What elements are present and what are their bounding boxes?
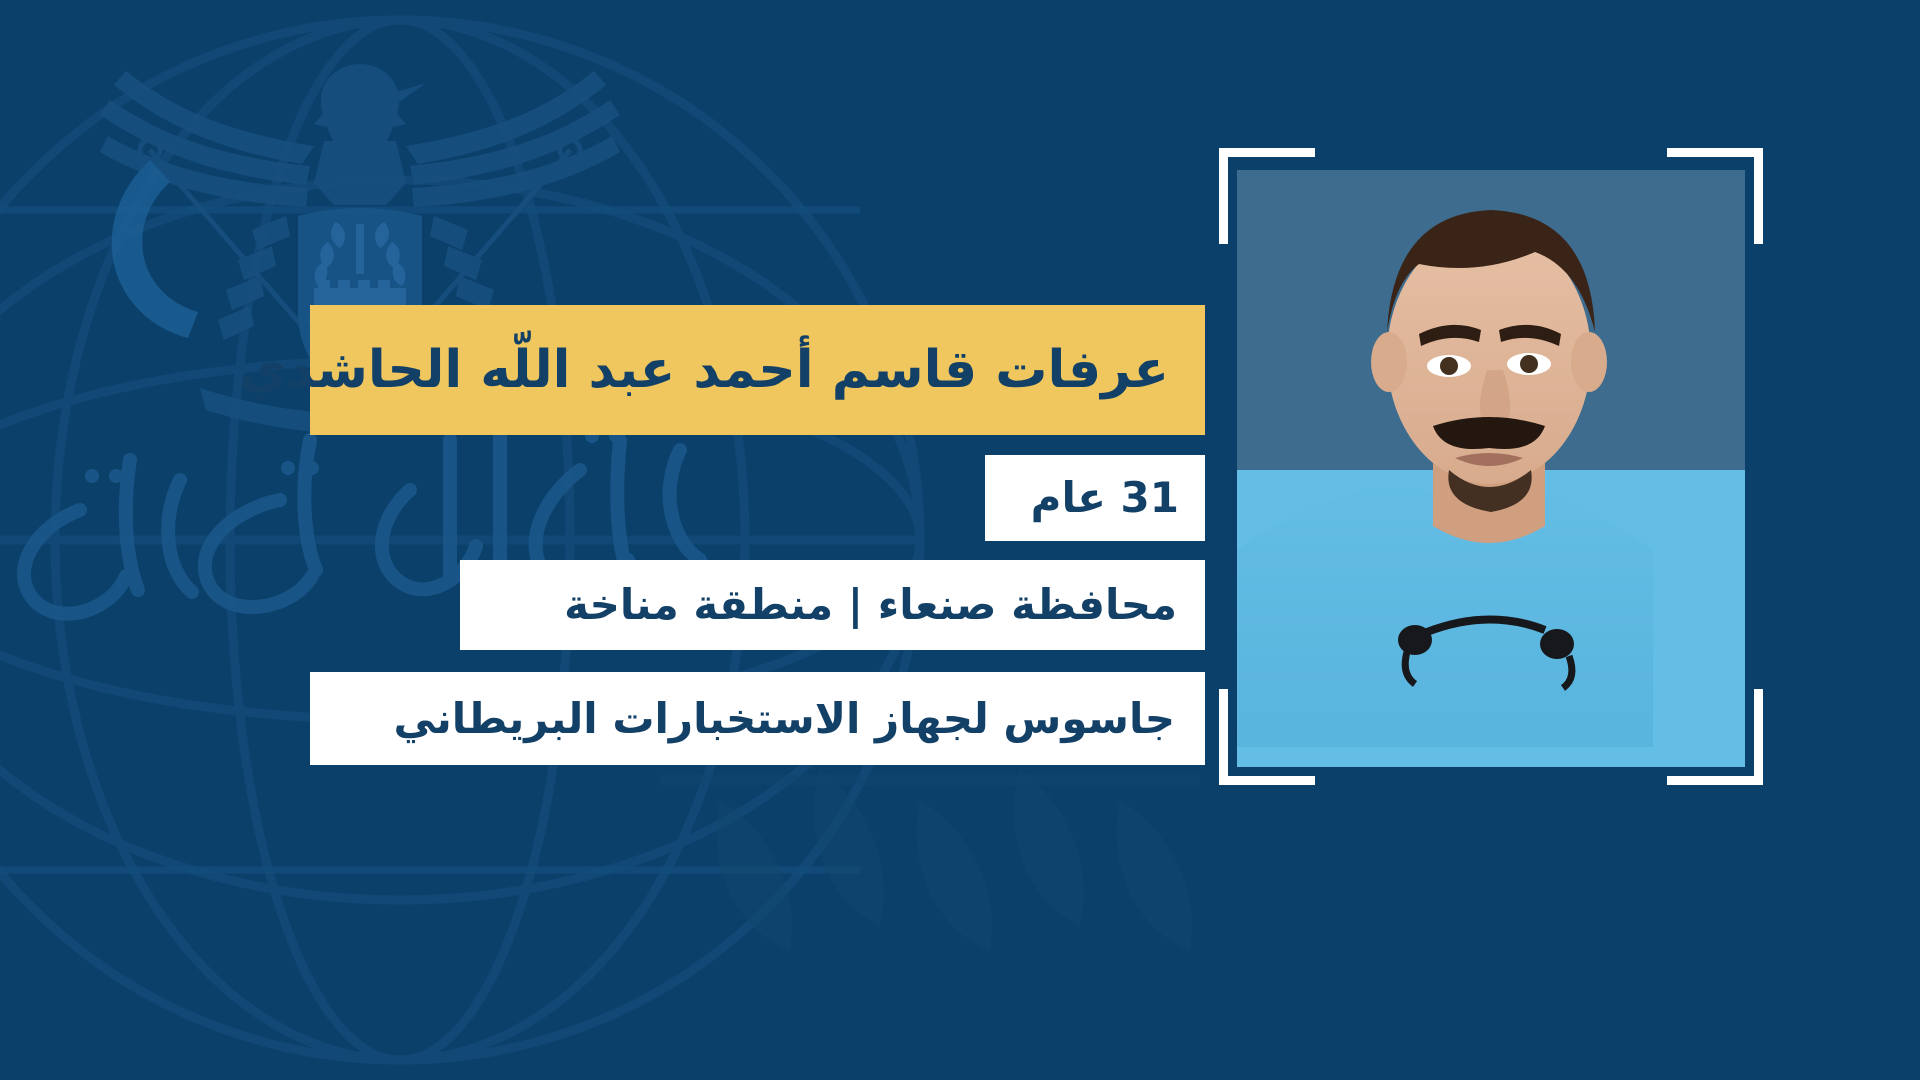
broadcast-lower-third-card: عرفات قاسم أحمد عبد اللّه الحاشدي 31 عام…: [0, 0, 1920, 1080]
suspect-charge-banner: جاسوس لجهاز الاستخبارات البريطاني: [310, 672, 1205, 765]
suspect-name-text: عرفات قاسم أحمد عبد اللّه الحاشدي: [239, 344, 1169, 396]
suspect-age-banner: 31 عام: [985, 455, 1205, 541]
suspect-age-text: 31 عام: [1031, 477, 1179, 519]
suspect-location-banner: محافظة صنعاء | منطقة مناخة: [460, 560, 1205, 650]
suspect-name-banner: عرفات قاسم أحمد عبد اللّه الحاشدي: [310, 305, 1205, 435]
suspect-portrait-image: [1237, 170, 1745, 767]
suspect-photo: [1237, 170, 1745, 767]
suspect-photo-frame: [1237, 170, 1745, 767]
suspect-location-text: محافظة صنعاء | منطقة مناخة: [564, 584, 1177, 626]
laurel-leaf-icon: [620, 760, 1240, 1060]
suspect-charge-text: جاسوس لجهاز الاستخبارات البريطاني: [394, 698, 1175, 740]
